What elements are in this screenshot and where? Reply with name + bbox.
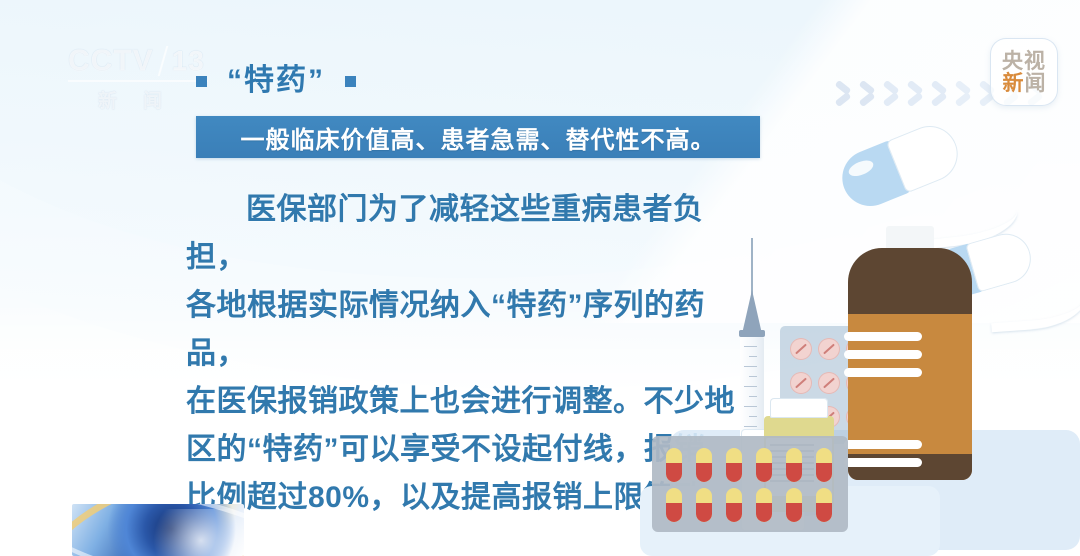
cctv-sub-char-1: 新 [98, 86, 117, 113]
syringe-tick [749, 416, 757, 417]
syringe-tick [744, 386, 757, 387]
page-title-row: “特药” [196, 66, 356, 96]
news-globe-thumbnail [72, 504, 244, 556]
blister-capsule [696, 488, 712, 522]
tablet-pill [790, 372, 812, 394]
blister-capsule [666, 448, 682, 482]
chevron-right-icon [952, 72, 974, 118]
bottle-label-stripe [844, 440, 922, 449]
capsule-blister-pack-icon [652, 436, 848, 532]
bottle-label-stripe [844, 458, 922, 467]
blister-capsule [786, 448, 802, 482]
syringe-tick [749, 396, 757, 397]
news-graphic-canvas: CCTV 13 新 闻 央视 新 闻 “特药” 一般临床价值高、患者急需、替代性… [0, 0, 1080, 556]
syringe-tick [744, 426, 757, 427]
app-badge-plain-char: 闻 [1025, 73, 1046, 94]
chevron-right-icon [856, 72, 878, 118]
bottle-shoulder [848, 248, 972, 324]
blister-capsule [726, 448, 742, 482]
square-bullet-left-icon [196, 76, 207, 87]
vial-cap [770, 398, 828, 418]
thumbnail-glow [141, 509, 244, 556]
cctv-wordmark: CCTV [68, 44, 154, 78]
syringe-needle [751, 238, 753, 296]
capsule-lower-trail [988, 277, 1080, 333]
cctv-logo-underline [68, 80, 208, 82]
cctv-news-app-badge: 央视 新 闻 [990, 38, 1058, 106]
syringe-tick [744, 366, 757, 367]
app-badge-line-2: 新 闻 [1003, 73, 1046, 94]
tablet-pill [818, 338, 840, 360]
chevron-right-icon [832, 72, 854, 118]
bottle-label-stripe [844, 332, 922, 341]
medicine-bottle-icon [848, 226, 972, 488]
bottle-label-stripe [844, 368, 922, 377]
tablet-pill [790, 338, 812, 360]
tablet-pill [818, 372, 840, 394]
blister-capsule [666, 488, 682, 522]
chevron-right-icon [904, 72, 926, 118]
app-badge-accent-char: 新 [1003, 73, 1024, 94]
syringe-cone [742, 290, 762, 334]
syringe-tick [749, 376, 757, 377]
square-bullet-right-icon [345, 76, 356, 87]
blister-capsule [816, 448, 832, 482]
cctv-slash-divider [157, 46, 168, 76]
definition-banner-text: 一般临床价值高、患者急需、替代性不高。 [241, 120, 716, 155]
app-badge-line-1: 央视 [1002, 51, 1046, 72]
syringe-tick [744, 346, 757, 347]
syringe-collar [739, 330, 765, 337]
blister-capsule [816, 488, 832, 522]
bottle-label-stripe [844, 350, 922, 359]
blister-capsule [756, 488, 772, 522]
chevron-right-icon [928, 72, 950, 118]
medicine-illustration [660, 130, 1080, 556]
blister-capsule [726, 488, 742, 522]
page-title: “特药” [227, 66, 325, 96]
blister-capsule [786, 488, 802, 522]
cctv-sub-char-2: 闻 [143, 86, 162, 113]
syringe-tick [744, 406, 757, 407]
syringe-tick [749, 356, 757, 357]
chevron-right-icon [880, 72, 902, 118]
blister-capsule [696, 448, 712, 482]
blister-capsule [756, 448, 772, 482]
